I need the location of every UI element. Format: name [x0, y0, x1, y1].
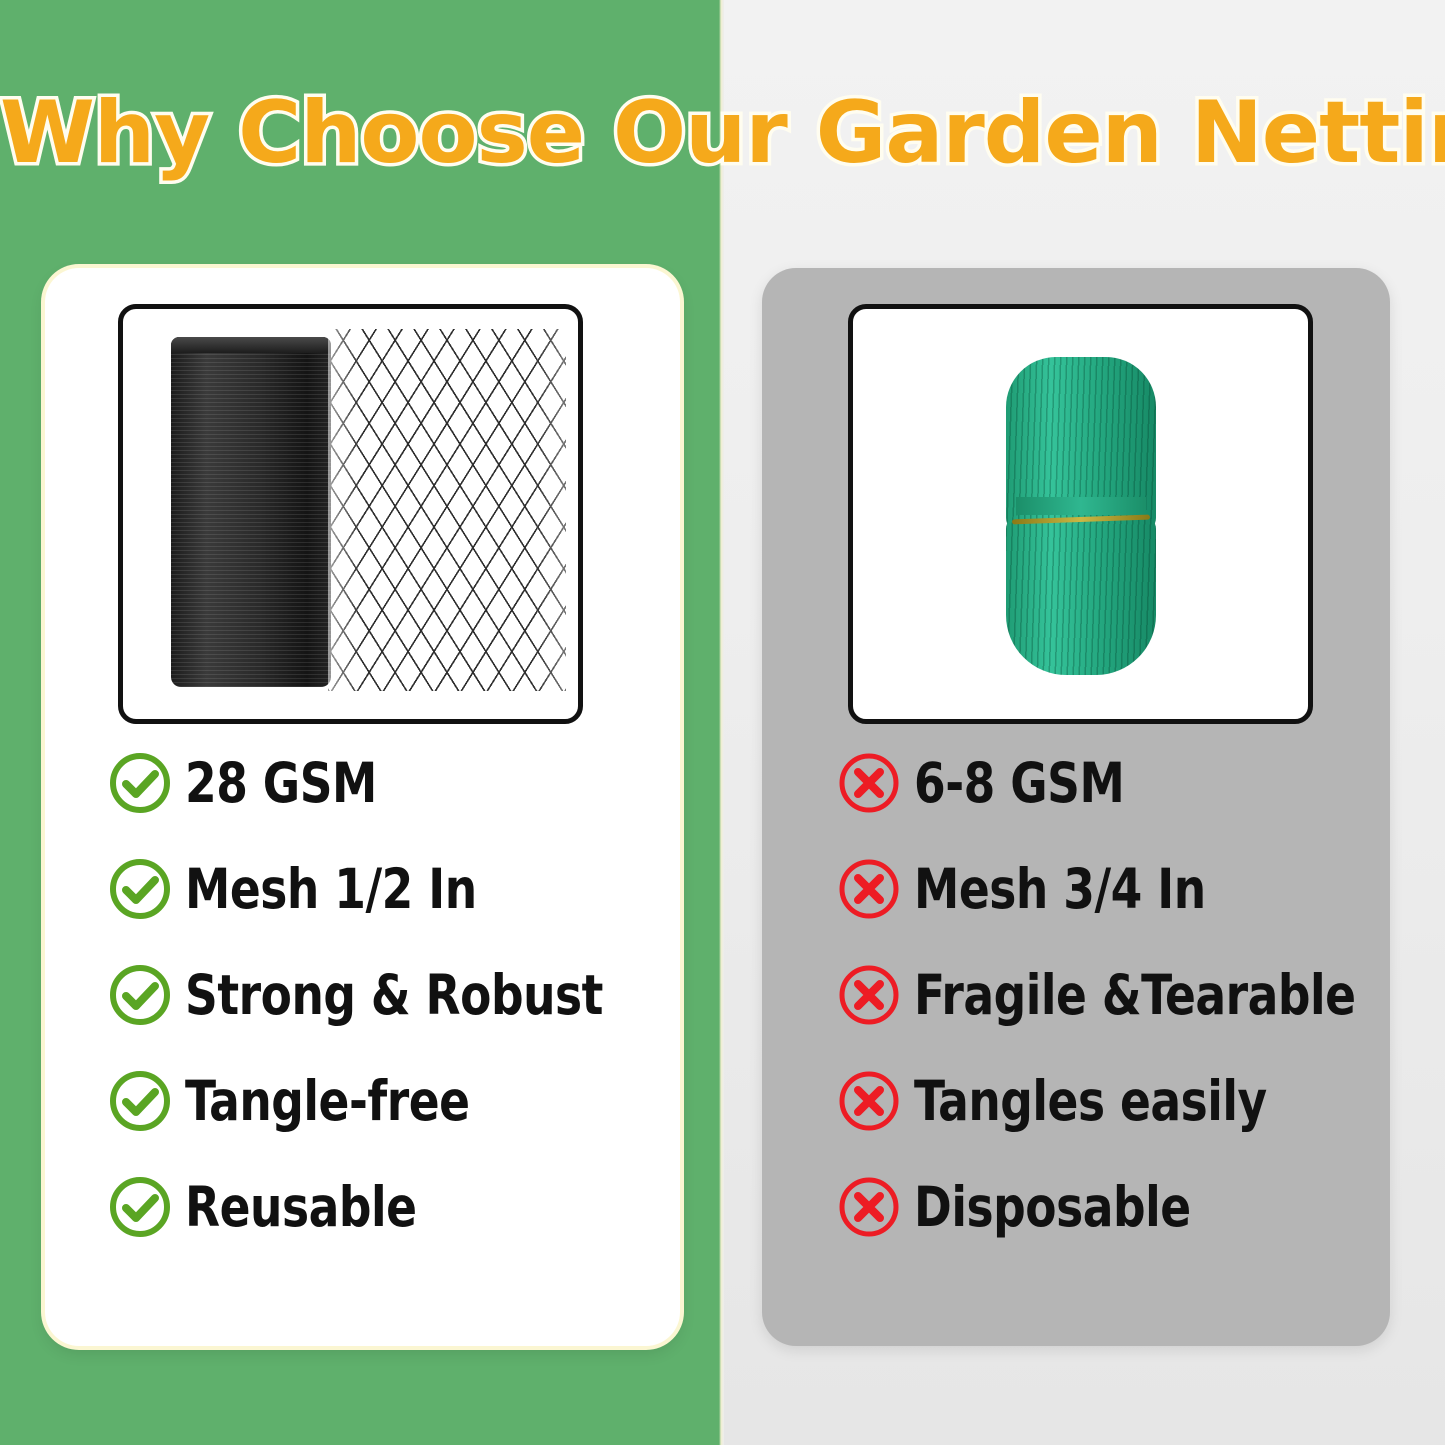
our-product-card: 28 GSM Mesh 1/2 In Strong & Robust Tangl…: [45, 268, 680, 1346]
list-item: Mesh 1/2 In: [107, 836, 680, 942]
list-item-label: Disposable: [914, 1180, 1191, 1235]
cross-circle-icon: [836, 856, 902, 922]
check-circle-icon: [107, 1174, 173, 1240]
list-item-label: Tangles easily: [914, 1074, 1267, 1129]
list-item: Strong & Robust: [107, 942, 680, 1048]
our-product-image-frame: [118, 304, 583, 724]
check-circle-icon: [107, 856, 173, 922]
other-product-image-frame: [848, 304, 1313, 724]
other-product-card: 6-8 GSM Mesh 3/4 In Fragile &Tearable Ta…: [762, 268, 1390, 1346]
panel-divider: [719, 0, 724, 1445]
infographic-canvas: Why Choose Our Garden Netting? 28 GSM Me…: [0, 0, 1445, 1445]
cross-circle-icon: [836, 1068, 902, 1134]
list-item-label: Fragile &Tearable: [914, 968, 1356, 1023]
list-item-label: Mesh 3/4 In: [914, 862, 1206, 917]
list-item-label: Mesh 1/2 In: [185, 862, 477, 917]
list-item-label: 28 GSM: [185, 756, 377, 811]
list-item: Mesh 3/4 In: [836, 836, 1390, 942]
list-item: Tangle-free: [107, 1048, 680, 1154]
check-circle-icon: [107, 750, 173, 816]
list-item-label: Tangle-free: [185, 1074, 470, 1129]
list-item: Disposable: [836, 1154, 1390, 1260]
page-title: Why Choose Our Garden Netting?: [0, 88, 1445, 178]
bundle-bottom-lobe: [1006, 515, 1156, 675]
green-netting-bundle-image: [1006, 357, 1156, 675]
our-product-feature-list: 28 GSM Mesh 1/2 In Strong & Robust Tangl…: [45, 730, 680, 1260]
check-circle-icon: [107, 962, 173, 1028]
list-item: Tangles easily: [836, 1048, 1390, 1154]
check-circle-icon: [107, 1068, 173, 1134]
cross-circle-icon: [836, 750, 902, 816]
cross-circle-icon: [836, 1174, 902, 1240]
other-product-feature-list: 6-8 GSM Mesh 3/4 In Fragile &Tearable Ta…: [762, 730, 1390, 1260]
netting-mesh-pattern: [328, 329, 566, 691]
black-netting-roll-image: [171, 337, 331, 687]
list-item-label: 6-8 GSM: [914, 756, 1124, 811]
list-item-label: Strong & Robust: [185, 968, 603, 1023]
list-item: 28 GSM: [107, 730, 680, 836]
list-item-label: Reusable: [185, 1180, 417, 1235]
list-item: Fragile &Tearable: [836, 942, 1390, 1048]
list-item: Reusable: [107, 1154, 680, 1260]
list-item: 6-8 GSM: [836, 730, 1390, 836]
cross-circle-icon: [836, 962, 902, 1028]
